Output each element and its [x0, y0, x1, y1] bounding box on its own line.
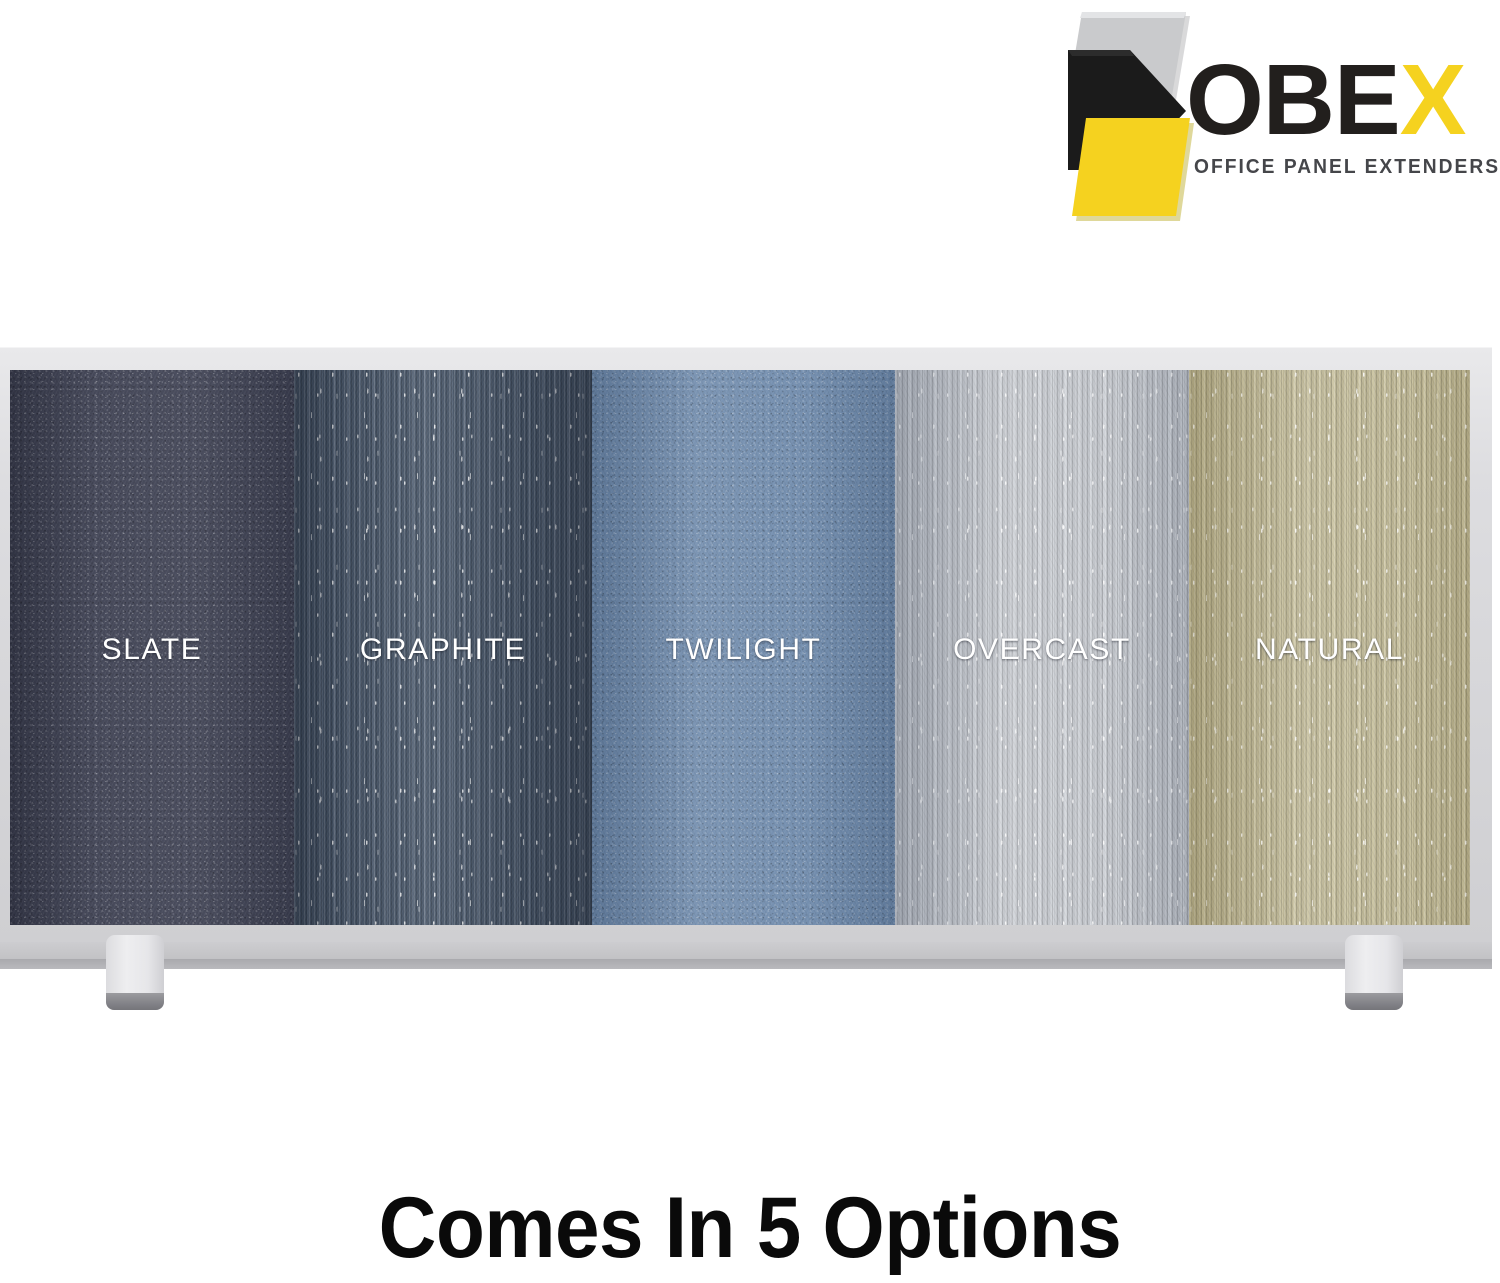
foot-body	[106, 935, 164, 997]
swatch-overcast: OVERCAST	[895, 370, 1189, 925]
foot-body	[1345, 935, 1403, 997]
swatch-natural: NATURAL	[1189, 370, 1470, 925]
panel-rail-shadow	[0, 959, 1492, 969]
panel-bottom-rail	[0, 942, 1492, 959]
panel-foot-left	[106, 935, 164, 1010]
swatch-graphite: GRAPHITE	[294, 370, 592, 925]
swatch-slate: SLATE	[10, 370, 294, 925]
foot-base	[1345, 993, 1403, 1010]
obex-logo: OBEX OFFICE PANEL EXTENDERS	[1068, 8, 1488, 258]
swatch-label: OVERCAST	[953, 633, 1131, 667]
wordmark-x: X	[1400, 44, 1466, 156]
swatch-twilight: TWILIGHT	[592, 370, 895, 925]
fabric-swatch-strip: SLATE GRAPHITE TWILIGHT	[10, 370, 1470, 925]
caption-text: Comes In 5 Options	[53, 1182, 1448, 1274]
swatch-label: GRAPHITE	[360, 633, 526, 667]
swatch-label: SLATE	[102, 633, 203, 667]
wordmark-obe: OBE	[1186, 44, 1400, 156]
obex-logo-mark-icon	[1068, 8, 1198, 258]
panel-extender-product: SLATE GRAPHITE TWILIGHT	[0, 347, 1500, 1007]
swatch-label: NATURAL	[1255, 633, 1404, 667]
panel-frame: SLATE GRAPHITE TWILIGHT	[0, 347, 1492, 942]
foot-base	[106, 993, 164, 1010]
logo-tagline: OFFICE PANEL EXTENDERS	[1194, 156, 1500, 179]
product-image-canvas: OBEX OFFICE PANEL EXTENDERS SLATE	[0, 0, 1500, 1283]
panel-foot-right	[1345, 935, 1403, 1010]
swatch-label: TWILIGHT	[665, 633, 821, 667]
